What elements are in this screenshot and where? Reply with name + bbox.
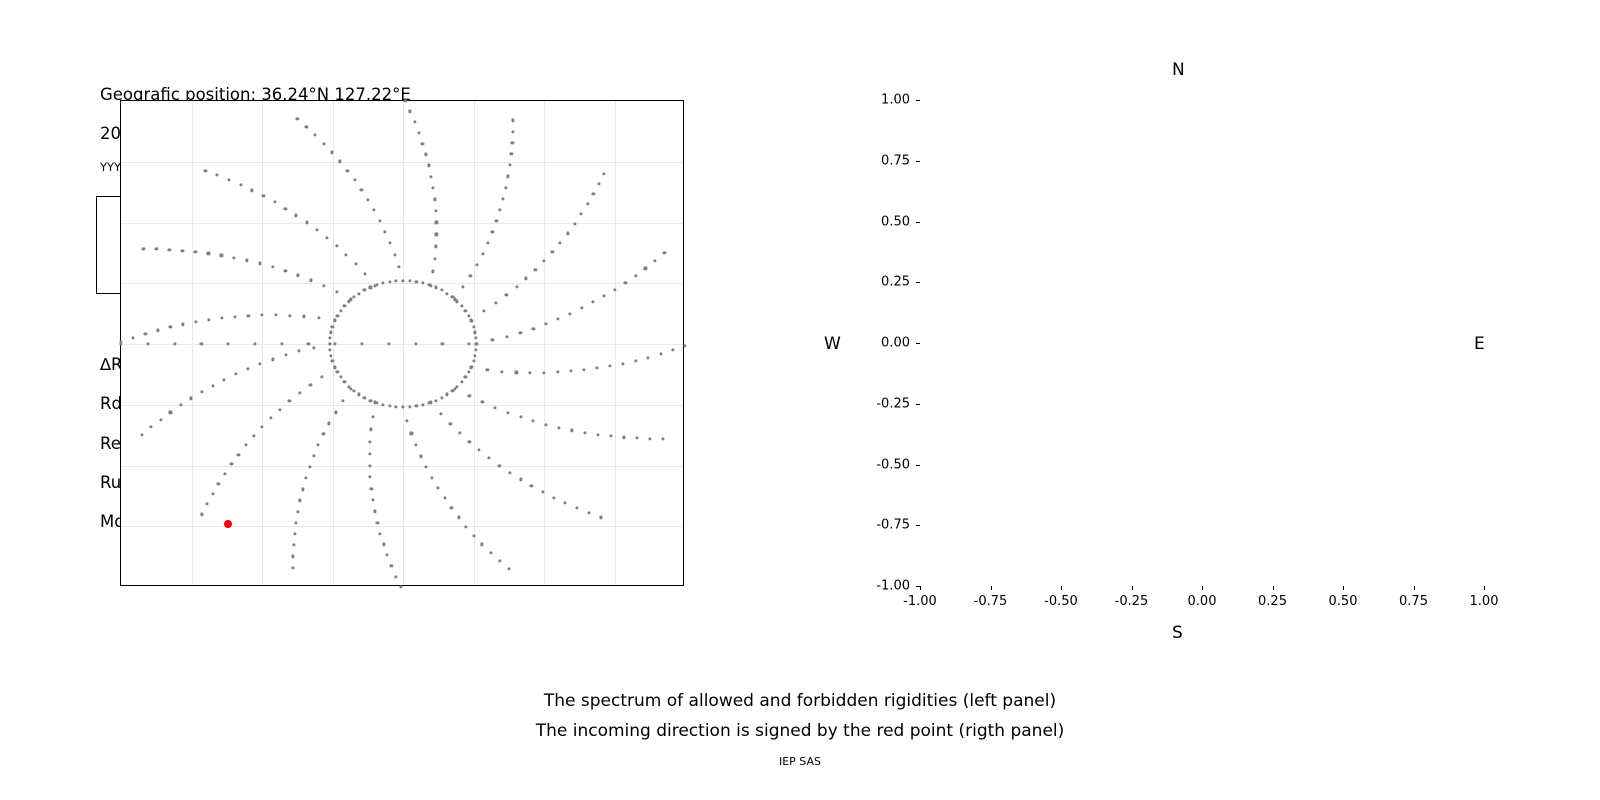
y-tick-label: -0.50 [852,457,910,472]
direction-point [211,492,214,495]
direction-point [322,433,325,436]
gridline-vertical [615,101,616,585]
direction-point [635,437,638,440]
direction-point [552,496,555,499]
direction-point [532,327,535,330]
direction-point [194,250,197,253]
direction-point [592,193,595,196]
gridline-horizontal [121,344,683,345]
direction-point [634,274,637,277]
direction-point [481,401,484,404]
direction-point [309,279,312,282]
direction-point [273,201,276,204]
direction-point [559,241,562,244]
direction-point [432,270,435,273]
direction-point [573,222,576,225]
direction-point [414,444,417,447]
direction-point [427,164,430,167]
direction-point [363,273,366,276]
direction-point [498,560,501,563]
direction-point [519,478,522,481]
direction-point [142,247,145,250]
inner-ring-point [352,296,355,299]
direction-point [510,152,513,155]
direction-point [434,245,437,248]
direction-point [233,256,236,259]
direction-point [498,464,501,467]
inner-ring-point [415,405,418,408]
direction-point [394,575,397,578]
direction-point [515,371,518,374]
inner-ring-point [456,385,459,388]
direction-point [482,309,485,312]
direction-point [368,452,371,455]
direction-point [542,371,545,374]
direction-point [305,125,308,128]
direction-point [671,349,674,352]
direction-point [293,532,296,535]
direction-point [544,423,547,426]
inner-ring-point [434,399,437,402]
inner-ring-point [408,405,411,408]
inner-ring-point [421,282,424,285]
direction-point [596,367,599,370]
direction-point [179,404,182,407]
direction-point [468,394,471,397]
direction-point [498,208,501,211]
direction-point [368,440,371,443]
direction-point [570,429,573,432]
inner-ring-point [475,342,478,345]
inner-ring-point [352,389,355,392]
y-tick-label: 0.50 [852,214,910,229]
direction-point [465,525,468,528]
inner-ring-point [473,331,476,334]
direction-point [156,329,159,332]
direction-point [360,188,363,191]
inner-ring-point [467,371,470,374]
direction-point [302,315,305,318]
direction-point [295,214,298,217]
direction-point [288,400,291,403]
inner-ring-point [339,309,342,312]
inner-ring-point [343,304,346,307]
caption-line-2: The incoming direction is signed by the … [0,716,1600,746]
direction-point [288,314,291,317]
y-tickmark [916,465,920,466]
inner-ring-point [460,380,463,383]
inner-ring-point [357,393,360,396]
direction-point [217,482,220,485]
direction-point [410,432,413,435]
direction-point [491,230,494,233]
x-tickmark [991,586,992,590]
direction-point [239,183,242,186]
y-tick-label: 0.75 [852,153,910,168]
inner-ring-point [401,279,404,282]
caption-line-1: The spectrum of allowed and forbidden ri… [0,686,1600,716]
direction-point [462,285,465,288]
direction-point [309,383,312,386]
y-tick-label: 1.00 [852,93,910,108]
direction-point [246,259,249,262]
direction-point [200,513,203,516]
x-tick-label: -1.00 [903,594,937,609]
inner-ring-point [381,403,384,406]
direction-point [291,555,294,558]
direction-point [237,453,240,456]
direction-point [200,390,203,393]
direction-point [271,265,274,268]
equator-point [441,342,444,345]
direction-point [341,400,344,403]
direction-point [488,457,491,460]
direction-point [532,419,535,422]
direction-point [435,221,438,224]
direction-point [233,315,236,318]
direction-point [181,323,184,326]
inner-ring-point [369,286,372,289]
direction-point [169,411,172,414]
compass-west-label: W [824,334,841,354]
direction-point [621,362,624,365]
direction-point [647,356,650,359]
direction-point [274,314,277,317]
inner-ring-point [470,320,473,323]
gridline-vertical [403,101,404,585]
direction-point [519,331,522,334]
direction-point [435,233,438,236]
direction-point [298,350,301,353]
equator-point [227,342,230,345]
y-tickmark [916,161,920,162]
direction-point [296,117,299,120]
direction-point [296,510,299,513]
direction-point [260,314,263,317]
gridline-vertical [192,101,193,585]
direction-point [508,471,511,474]
inner-ring-point [446,292,449,295]
inner-ring-point [470,365,473,368]
direction-point [315,228,318,231]
direction-point [430,476,433,479]
direction-point [207,252,210,255]
inner-ring-point [369,399,372,402]
equator-point [414,342,417,345]
direction-point [220,254,223,257]
inner-ring-point [440,396,443,399]
y-tickmark [916,100,920,101]
direction-point [478,449,481,452]
direction-point [557,318,560,321]
direction-point [663,251,666,254]
equator-point [334,342,337,345]
compass-north-label: N [1172,60,1185,80]
direction-point [417,131,420,134]
direction-point [325,236,328,239]
direction-point [597,182,600,185]
inner-ring-point [464,376,467,379]
gridline-horizontal [121,526,683,527]
direction-point [489,551,492,554]
direction-point [304,477,307,480]
direction-point [207,318,210,321]
footer-credit: IEP SAS [0,755,1600,768]
direction-point [542,259,545,262]
equator-point [119,342,122,345]
gridline-horizontal [121,466,683,467]
equator-point [468,342,471,345]
direction-point [366,198,369,201]
direction-point [421,142,424,145]
direction-point [346,169,349,172]
gridline-horizontal [121,162,683,163]
x-tickmark [920,586,921,590]
direction-point [583,368,586,371]
direction-point [507,175,510,178]
direction-point [569,370,572,373]
y-tickmark [916,282,920,283]
direction-point [305,221,308,224]
inner-ring-point [363,396,366,399]
equator-point [146,342,149,345]
direction-point [390,564,393,567]
direction-point [457,516,460,519]
x-tick-label: 0.75 [1399,594,1428,609]
direction-point [507,568,510,571]
x-tickmark [1273,586,1274,590]
direction-point [587,511,590,514]
direction-point [371,498,374,501]
inner-ring-point [375,283,378,286]
direction-point [659,352,662,355]
inner-ring-point [333,320,336,323]
direction-point [512,119,515,122]
direction-point [493,406,496,409]
direction-point [580,212,583,215]
direction-point [551,250,554,253]
equator-point [173,342,176,345]
y-tickmark [916,586,920,587]
inner-ring-point [363,289,366,292]
direction-point [475,263,478,266]
direction-point [353,179,356,182]
figure-caption: The spectrum of allowed and forbidden ri… [0,686,1600,746]
direction-point [519,415,522,418]
direction-point [491,339,494,342]
direction-point [354,263,357,266]
direction-point [373,510,376,513]
direction-point [393,253,396,256]
direction-point [301,488,304,491]
direction-point [312,346,315,349]
direction-point [194,320,197,323]
direction-point [511,130,514,133]
direction-point [376,521,379,524]
direction-point [603,294,606,297]
equator-point [280,342,283,345]
direction-point [481,252,484,255]
inner-ring-point [472,325,475,328]
direction-point [654,259,657,262]
x-tickmark [1484,586,1485,590]
direction-point [384,230,387,233]
direction-point [596,433,599,436]
direction-point [334,411,337,414]
direction-point [505,293,508,296]
direction-point [586,203,589,206]
direction-point [223,472,226,475]
direction-point [502,197,505,200]
direction-point [144,332,147,335]
x-tickmark [1061,586,1062,590]
direction-point [609,435,612,438]
direction-point [529,371,532,374]
y-tickmark [916,525,920,526]
direction-point [644,267,647,270]
direction-point [368,464,371,467]
direction-point [159,418,162,421]
equator-point [200,342,203,345]
direction-point [449,422,452,425]
direction-point [389,241,392,244]
direction-point [603,172,606,175]
direction-point [431,186,434,189]
x-tick-label: -0.75 [974,594,1008,609]
y-tickmark [916,343,920,344]
direction-point [382,543,385,546]
inner-ring-point [401,406,404,409]
x-tick-label: -0.25 [1115,594,1149,609]
inner-ring-point [328,342,331,345]
direction-point [569,312,572,315]
direction-point [294,521,297,524]
direction-point [508,164,511,167]
direction-point [297,274,300,277]
inner-ring-point [446,393,449,396]
direction-point [284,354,287,357]
direction-point [312,455,315,458]
direction-point [269,417,272,420]
direction-point [335,244,338,247]
direction-point [506,411,509,414]
direction-point [580,307,583,310]
direction-point [373,209,376,212]
direction-point [328,422,331,425]
inner-ring-point [331,325,334,328]
selected-direction-point [224,520,232,528]
inner-ring-point [460,304,463,307]
direction-point [433,198,436,201]
direction-point [661,437,664,440]
direction-point [486,241,489,244]
direction-point [299,499,302,502]
direction-point [371,415,374,418]
direction-point [271,358,274,361]
direction-point [481,543,484,546]
direction-point [216,174,219,177]
direction-point [599,516,602,519]
direction-point [473,534,476,537]
direction-point [169,326,172,329]
direction-point [458,432,461,435]
inner-ring-point [464,309,467,312]
direction-point [369,476,372,479]
direction-point [424,153,427,156]
y-tick-label: -1.00 [852,579,910,594]
direction-point [291,566,294,569]
y-tick-label: -0.75 [852,518,910,533]
compass-east-label: E [1474,334,1485,354]
gridline-horizontal [121,283,683,284]
direction-point [314,133,317,136]
inner-ring-point [328,348,331,351]
direction-point [419,455,422,458]
inner-ring-point [336,371,339,374]
direction-point [234,373,237,376]
direction-point [530,484,533,487]
direction-point [204,169,207,172]
inner-ring-point [473,354,476,357]
inner-ring-point [472,360,475,363]
x-tick-label: 0.50 [1329,594,1358,609]
direction-point [505,335,508,338]
gridline-vertical [262,101,263,585]
direction-point [320,375,323,378]
x-tickmark [1202,586,1203,590]
direction-point [223,378,226,381]
direction-point [149,426,152,429]
inner-ring-point [440,289,443,292]
x-tick-label: -0.50 [1044,594,1078,609]
direction-point [583,431,586,434]
direction-point [634,359,637,362]
inner-ring-point [357,292,360,295]
inner-ring-point [451,389,454,392]
equator-point [307,342,310,345]
inner-ring-point [421,403,424,406]
direction-point [515,285,518,288]
direction-point [322,284,325,287]
inner-ring-point [456,300,459,303]
direction-point [556,371,559,374]
inner-ring-point [336,314,339,317]
direction-point [566,232,569,235]
direction-point [247,314,250,317]
gridline-vertical [544,101,545,585]
direction-point [468,440,471,443]
direction-point [284,269,287,272]
direction-point [504,186,507,189]
direction-point [317,444,320,447]
x-tickmark [1132,586,1133,590]
direction-point [252,434,255,437]
direction-point [284,207,287,210]
direction-point [168,248,171,251]
direction-point [298,391,301,394]
direction-point [486,368,489,371]
direction-point [613,288,616,291]
direction-point [413,120,416,123]
inner-ring-point [434,286,437,289]
direction-point [494,301,497,304]
direction-point [251,189,254,192]
direction-point [436,487,439,490]
y-tick-label: 0.25 [852,275,910,290]
direction-point [425,466,428,469]
direction-point [433,257,436,260]
direction-point [622,436,625,439]
